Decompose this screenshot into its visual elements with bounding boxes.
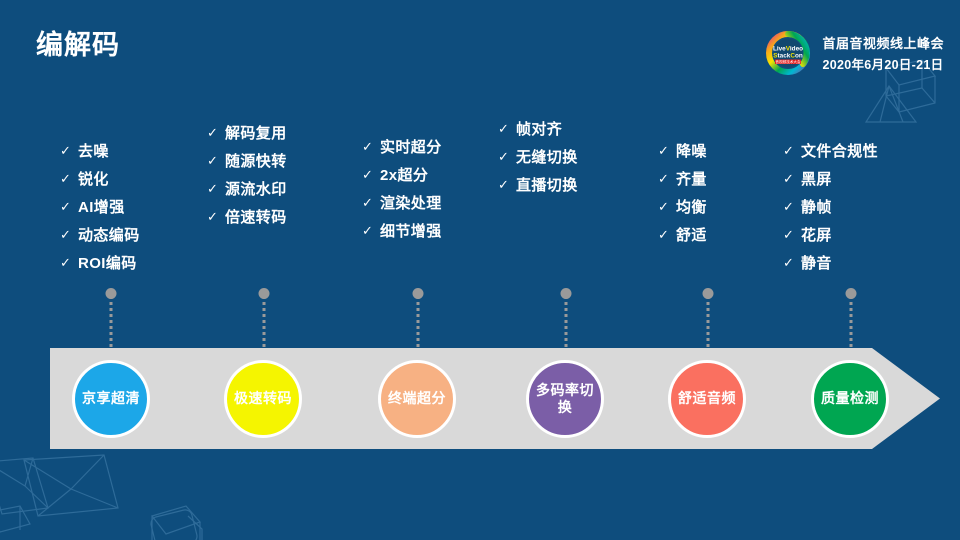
check-icon: ✓ <box>207 126 225 139</box>
rounded-box-wireframe-bottom <box>152 506 200 540</box>
checklist-item: ✓ 细节增强 <box>362 220 442 241</box>
checklist-item: ✓ 花屏 <box>783 224 878 245</box>
cube-wireframe-bottom-center <box>150 508 202 540</box>
checklist-item: ✓ 均衡 <box>658 196 707 217</box>
checklist-label: 舒适 <box>676 224 707 245</box>
checklist-label: 花屏 <box>801 224 832 245</box>
checklist-item: ✓ 黑屏 <box>783 168 878 189</box>
checklist-label: 帧对齐 <box>516 118 562 139</box>
checklist-item: ✓ 倍速转码 <box>207 206 287 227</box>
checklist-label: 细节增强 <box>380 220 442 241</box>
checklist-label: AI增强 <box>78 196 125 217</box>
checklist-label: 倍速转码 <box>225 206 287 227</box>
checklist-item: ✓ AI增强 <box>60 196 140 217</box>
arrow-band-shape <box>50 348 940 449</box>
check-icon: ✓ <box>498 178 516 191</box>
check-icon: ✓ <box>498 150 516 163</box>
checklist-item: ✓ 随源快转 <box>207 150 287 171</box>
pipeline-node-label: 终端超分 <box>384 390 450 406</box>
pipeline-node-6[interactable]: 质量检测 <box>811 360 889 438</box>
check-icon: ✓ <box>783 200 801 213</box>
pipeline-node-label: 舒适音频 <box>674 390 740 406</box>
check-icon: ✓ <box>658 228 676 241</box>
checklist-item: ✓ 无缝切换 <box>498 146 578 167</box>
pipeline-node-label: 极速转码 <box>230 390 296 406</box>
feature-column-5: ✓ 降噪 ✓ 齐量 ✓ 均衡 ✓ 舒适 <box>658 140 707 252</box>
checklist-label: 解码复用 <box>225 122 287 143</box>
checklist-item: ✓ 文件合规性 <box>783 140 878 161</box>
checklist-label: 齐量 <box>676 168 707 189</box>
check-icon: ✓ <box>362 224 380 237</box>
envelope-wireframe-bottom-left <box>0 458 48 514</box>
checklist-label: 静帧 <box>801 196 832 217</box>
checklist-item: ✓ 渲染处理 <box>362 192 442 213</box>
checklist-label: 直播切换 <box>516 174 578 195</box>
pipeline-node-1[interactable]: 京享超清 <box>72 360 150 438</box>
cube-wireframe-bottom-left <box>0 506 30 538</box>
connector-dotted-line <box>263 296 266 352</box>
check-icon: ✓ <box>362 168 380 181</box>
feature-column-6: ✓ 文件合规性 ✓ 黑屏 ✓ 静帧 ✓ 花屏 ✓ 静音 <box>783 140 878 280</box>
pipeline-node-label: 质量检测 <box>817 390 883 406</box>
connector-dotted-line <box>565 296 568 352</box>
checklist-label: 黑屏 <box>801 168 832 189</box>
check-icon: ✓ <box>658 172 676 185</box>
pipeline-node-4[interactable]: 多码率切换 <box>526 360 604 438</box>
checklist-label: 随源快转 <box>225 150 287 171</box>
checklist-label: 2x超分 <box>380 164 428 185</box>
checklist-item: ✓ 静帧 <box>783 196 878 217</box>
checklist-item: ✓ 2x超分 <box>362 164 442 185</box>
checklist-item: ✓ 帧对齐 <box>498 118 578 139</box>
checklist-label: 锐化 <box>78 168 109 189</box>
check-icon: ✓ <box>60 200 78 213</box>
checklist-label: 渲染处理 <box>380 192 442 213</box>
check-icon: ✓ <box>60 172 78 185</box>
check-icon: ✓ <box>362 196 380 209</box>
pipeline-node-3[interactable]: 终端超分 <box>378 360 456 438</box>
check-icon: ✓ <box>658 200 676 213</box>
feature-columns: ✓ 去噪 ✓ 锐化 ✓ AI增强 ✓ 动态编码 ✓ ROI编码 ✓ <box>0 0 960 300</box>
check-icon: ✓ <box>207 182 225 195</box>
checklist-item: ✓ ROI编码 <box>60 252 140 273</box>
connector-dotted-line <box>417 296 420 352</box>
check-icon: ✓ <box>783 144 801 157</box>
connector-dotted-line <box>707 296 710 352</box>
checklist-label: 实时超分 <box>380 136 442 157</box>
connector-dotted-line <box>850 296 853 352</box>
check-icon: ✓ <box>207 210 225 223</box>
checklist-item: ✓ 锐化 <box>60 168 140 189</box>
pipeline-node-2[interactable]: 极速转码 <box>224 360 302 438</box>
checklist-label: 降噪 <box>676 140 707 161</box>
checklist-label: 去噪 <box>78 140 109 161</box>
check-icon: ✓ <box>498 122 516 135</box>
envelope-wireframe-bottom-left-2 <box>24 455 118 516</box>
checklist-item: ✓ 动态编码 <box>60 224 140 245</box>
checklist-label: 无缝切换 <box>516 146 578 167</box>
check-icon: ✓ <box>783 256 801 269</box>
checklist-item: ✓ 解码复用 <box>207 122 287 143</box>
checklist-label: 均衡 <box>676 196 707 217</box>
check-icon: ✓ <box>60 256 78 269</box>
checklist-label: 动态编码 <box>78 224 140 245</box>
feature-column-3: ✓ 实时超分 ✓ 2x超分 ✓ 渲染处理 ✓ 细节增强 <box>362 136 442 248</box>
checklist-item: ✓ 舒适 <box>658 224 707 245</box>
slide-canvas: 编解码 <box>0 0 960 540</box>
checklist-label: ROI编码 <box>78 252 137 273</box>
check-icon: ✓ <box>783 172 801 185</box>
check-icon: ✓ <box>362 140 380 153</box>
feature-column-1: ✓ 去噪 ✓ 锐化 ✓ AI增强 ✓ 动态编码 ✓ ROI编码 <box>60 140 140 280</box>
pipeline-node-label: 京享超清 <box>78 390 144 406</box>
check-icon: ✓ <box>60 144 78 157</box>
checklist-item: ✓ 静音 <box>783 252 878 273</box>
checklist-item: ✓ 齐量 <box>658 168 707 189</box>
check-icon: ✓ <box>783 228 801 241</box>
checklist-item: ✓ 降噪 <box>658 140 707 161</box>
checklist-item: ✓ 直播切换 <box>498 174 578 195</box>
checklist-label: 文件合规性 <box>801 140 878 161</box>
checklist-item: ✓ 源流水印 <box>207 178 287 199</box>
checklist-label: 源流水印 <box>225 178 287 199</box>
feature-column-2: ✓ 解码复用 ✓ 随源快转 ✓ 源流水印 ✓ 倍速转码 <box>207 122 287 234</box>
feature-column-4: ✓ 帧对齐 ✓ 无缝切换 ✓ 直播切换 <box>498 118 578 202</box>
pipeline-arrow-band: 京享超清 极速转码 终端超分 多码率切换 舒适音频 质量检测 <box>50 348 940 449</box>
pipeline-node-label: 多码率切换 <box>529 382 601 414</box>
checklist-item: ✓ 去噪 <box>60 140 140 161</box>
check-icon: ✓ <box>207 154 225 167</box>
checklist-item: ✓ 实时超分 <box>362 136 442 157</box>
checklist-label: 静音 <box>801 252 832 273</box>
pipeline-node-5[interactable]: 舒适音频 <box>668 360 746 438</box>
check-icon: ✓ <box>658 144 676 157</box>
check-icon: ✓ <box>60 228 78 241</box>
connector-dotted-line <box>110 296 113 352</box>
